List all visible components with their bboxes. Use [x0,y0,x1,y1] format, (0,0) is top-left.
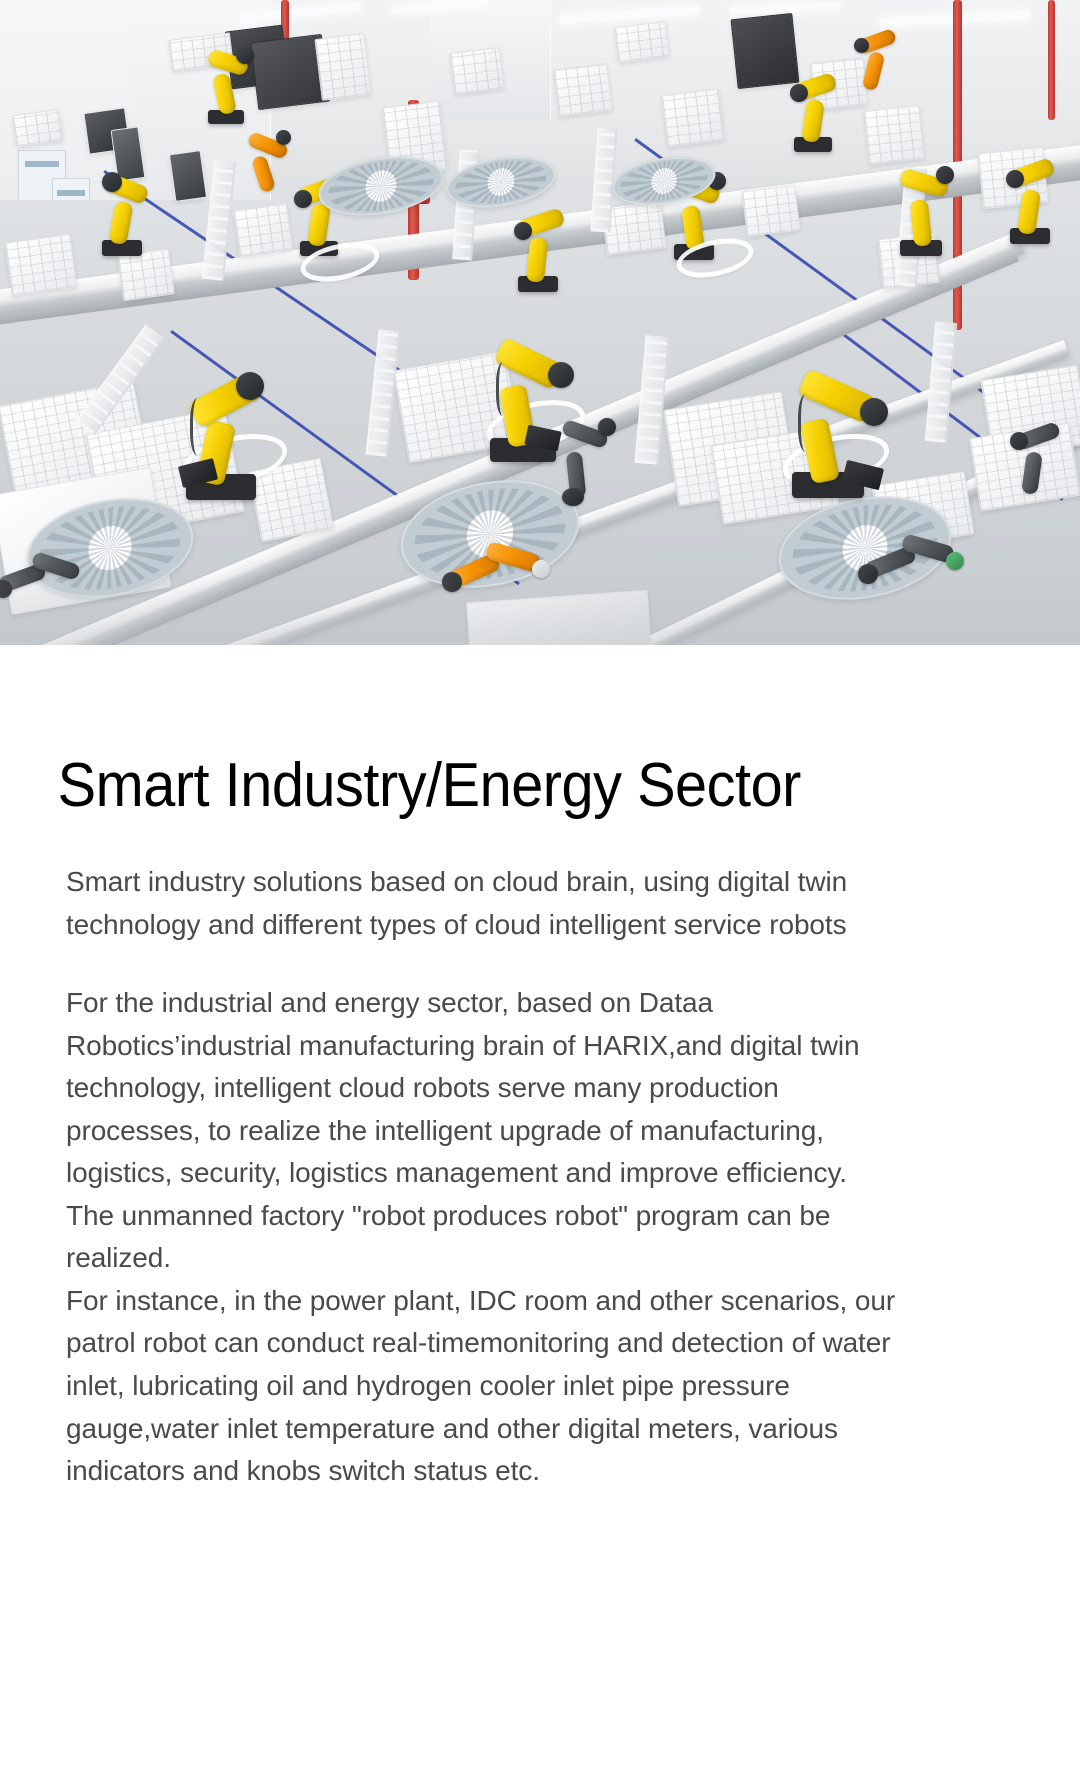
robot-arm [96,166,154,256]
robot-joint [598,418,616,436]
robot-joint [548,362,574,388]
robot-arm [510,200,570,292]
robot-joint [1010,432,1028,450]
robot-cable [798,394,817,452]
white-crate [661,89,725,148]
robot-joint [294,190,312,208]
robot-joint [854,38,869,53]
article-content: Smart Industry/Energy Sector Smart indus… [0,645,1080,1493]
white-crate [450,47,505,95]
factory-scene-illustration [0,0,1080,645]
white-crate [614,21,670,63]
white-crate [117,249,175,302]
white-crate [553,63,612,117]
robot-joint [790,84,808,102]
hero-image [0,0,1080,645]
white-crate [863,105,924,165]
robot-joint [946,552,964,570]
robot-segment [910,199,933,247]
robot-arm [1006,412,1076,500]
robot-cable [190,398,209,456]
robot-arm [786,66,844,152]
robot-joint [236,372,264,400]
hero-bottom-fade [0,575,1080,645]
robot-segment [108,201,133,245]
red-pipe [1048,0,1055,120]
robot-arm [548,408,628,504]
machine-cabinet [169,150,207,202]
robot-joint [936,166,954,184]
robot-joint [860,398,888,426]
article-paragraph-2: The unmanned factory "robot produces rob… [66,1195,896,1280]
robot-segment [1021,451,1043,495]
white-crate [314,33,371,101]
robot-arm [176,370,276,500]
white-crate [12,109,64,147]
article-lede: Smart industry solutions based on cloud … [66,861,886,946]
article-paragraph-group: The unmanned factory "robot produces rob… [66,1195,896,1493]
robot-segment [862,51,886,92]
robot-joint [1006,170,1024,188]
article-paragraph-3: For instance, in the power plant, IDC ro… [66,1280,896,1493]
article-paragraph-1: For the industrial and energy sector, ba… [66,982,896,1195]
robot-arm [892,160,954,256]
robot-joint [514,222,532,240]
page-title: Smart Industry/Energy Sector [0,645,1004,817]
robot-joint [562,488,584,506]
robot-joint [102,172,122,192]
robot-arm [852,24,902,96]
article-body: Smart industry solutions based on cloud … [0,861,1080,1493]
white-crate [741,185,800,237]
robot-cable [496,362,513,416]
robot-joint [236,46,254,64]
robot-joint [276,130,291,145]
robot-segment [251,155,276,194]
white-crate [5,234,78,297]
white-crate [233,202,293,257]
robot-arm [784,368,888,498]
robot-arm [244,128,294,198]
robot-arm [200,42,256,124]
robot-arm [1004,152,1064,244]
robot-segment [212,73,237,116]
